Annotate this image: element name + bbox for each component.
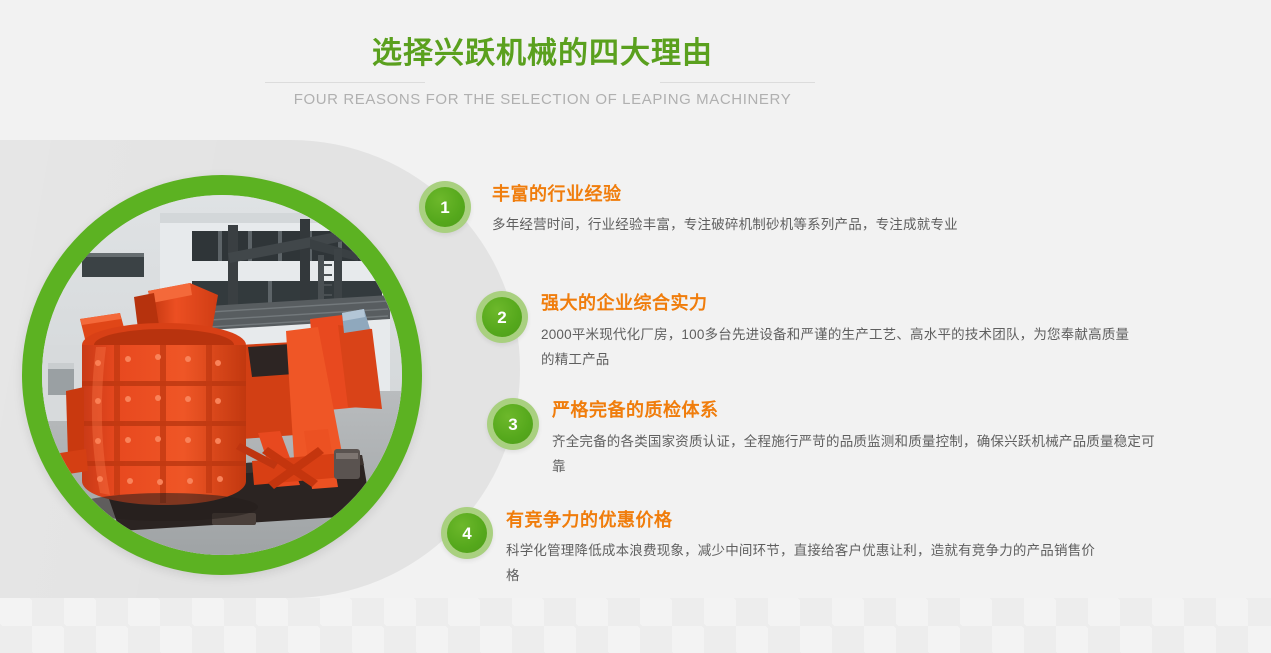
badge-core-icon: 1	[425, 187, 465, 227]
reason-number-2: 2	[497, 309, 506, 326]
badge-core-icon: 2	[482, 297, 522, 337]
page-subtitle: FOUR REASONS FOR THE SELECTION OF LEAPIN…	[0, 90, 1085, 110]
reason-title-3: 严格完备的质检体系	[552, 398, 719, 422]
product-photo	[42, 195, 402, 555]
reason-badge-3: 3	[487, 398, 539, 450]
reason-body-2: 2000平米现代化厂房，100多台先进设备和严谨的生产工艺、高水平的技术团队，为…	[541, 322, 1141, 372]
reason-body-4: 科学化管理降低成本浪费现象，减少中间环节，直接给客户优惠让利，造就有竞争力的产品…	[506, 538, 1096, 588]
reason-title-1: 丰富的行业经验	[492, 182, 622, 206]
reason-title-4: 有竞争力的优惠价格	[506, 508, 673, 532]
reason-number-3: 3	[508, 416, 517, 433]
title-divider	[265, 82, 815, 83]
page-title: 选择兴跃机械的四大理由	[0, 34, 1085, 74]
badge-core-icon: 3	[493, 404, 533, 444]
floor-tile-pattern	[0, 598, 1271, 653]
reason-number-1: 1	[440, 199, 449, 216]
badge-core-icon: 4	[447, 513, 487, 553]
reason-badge-4: 4	[441, 507, 493, 559]
reason-badge-2: 2	[476, 291, 528, 343]
reason-body-3: 齐全完备的各类国家资质认证，全程施行严苛的品质监测和质量控制，确保兴跃机械产品质…	[552, 429, 1160, 479]
reason-body-1: 多年经营时间，行业经验丰富，专注破碎机制砂机等系列产品，专注成就专业	[492, 212, 1132, 237]
crusher-machine-illustration	[42, 195, 402, 555]
reason-badge-1: 1	[419, 181, 471, 233]
reason-title-2: 强大的企业综合实力	[541, 291, 708, 315]
section-header: 选择兴跃机械的四大理由 FOUR REASONS FOR THE SELECTI…	[0, 0, 1271, 128]
reason-number-4: 4	[462, 525, 471, 542]
product-photo-ring	[22, 175, 422, 575]
